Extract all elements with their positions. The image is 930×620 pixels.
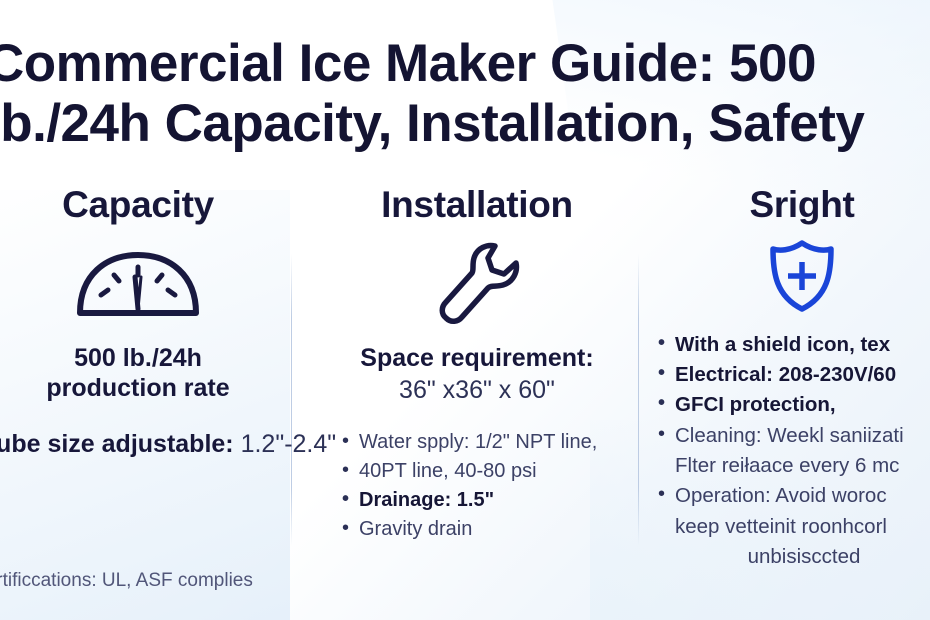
column-divider-2 <box>638 254 639 546</box>
installation-bullet-1: 40PT line, 40-80 psi <box>359 460 537 482</box>
column-safety-heading: Sright <box>652 186 930 225</box>
installation-bullet-list: Water spply: 1/2" NPT line, 40PT line, 4… <box>340 429 636 544</box>
title-line-1: Commercial Ice Maker Guide: 500 <box>0 34 930 94</box>
column-installation: Installation Space requirement: 36" x36"… <box>318 186 636 546</box>
column-safety: Sright With a shield icon, tex Electrica… <box>652 186 930 573</box>
safety-bullet-7: unbisisccted <box>748 545 861 568</box>
list-item: Gravity drain <box>340 516 636 543</box>
installation-bullet-0: Water spply: 1/2" NPT line, <box>359 431 597 453</box>
list-item: keep vetteinit roonhcorl <box>656 513 930 541</box>
safety-bullet-1: Electrical: 208-230V/60 <box>675 363 896 386</box>
gauge-icon <box>0 247 298 319</box>
column-capacity-heading: Capacity <box>0 186 298 225</box>
column-installation-heading: Installation <box>318 186 636 225</box>
capacity-rate-line2: production rate <box>0 373 298 403</box>
installation-space-value: 36" x36" x 60" <box>318 375 636 405</box>
list-item: Cleaning: Weekl saniizati <box>656 422 930 450</box>
safety-bullet-2: GFCI protection, <box>675 393 836 416</box>
safety-bullet-4: Flter reiłaace every 6 mc <box>675 454 899 477</box>
list-item: With a shield icon, tex <box>656 331 930 359</box>
safety-bullet-5: Operation: Avoid woroc <box>675 484 887 507</box>
safety-bullet-3: Cleaning: Weekl saniizati <box>675 424 904 447</box>
capacity-production-rate: 500 lb./24h production rate <box>0 343 298 403</box>
safety-bullet-6: keep vetteinit roonhcorl <box>675 515 887 538</box>
shield-plus-icon <box>652 241 930 311</box>
list-item: Water spply: 1/2" NPT line, <box>340 429 636 456</box>
list-item: Operation: Avoid woroc <box>656 482 930 510</box>
list-item: Drainage: 1.5" <box>340 487 636 514</box>
column-capacity: Capacity 500 lb./24h production rate Cub… <box>0 186 298 459</box>
list-item: Electrical: 208-230V/60 <box>656 361 930 389</box>
safety-bullet-list: With a shield icon, tex Electrical: 208-… <box>656 331 930 571</box>
footer-certifications: Certificcations: UL, ASF complies <box>0 570 253 592</box>
safety-bullet-0: With a shield icon, tex <box>675 333 890 356</box>
list-item: Flter reiłaace every 6 mc <box>656 452 930 480</box>
installation-space-requirement: Space requirement: 36" x36" x 60" <box>318 343 636 405</box>
installation-bullet-3: Gravity drain <box>359 518 472 540</box>
installation-space-label: Space requirement: <box>360 344 593 372</box>
title-line-2: lb./24h Capacity, Installation, Safety <box>0 94 930 154</box>
infographic-slide: Commercial Ice Maker Guide: 500 lb./24h … <box>0 0 930 620</box>
installation-bullet-2: Drainage: 1.5" <box>359 489 494 511</box>
capacity-rate-line1: 500 lb./24h <box>74 344 202 372</box>
wrench-icon <box>318 247 636 319</box>
capacity-cube-size: Cube size adjustable: 1.2"-2.4" <box>0 429 298 460</box>
list-item: GFCI protection, <box>656 391 930 419</box>
page-title: Commercial Ice Maker Guide: 500 lb./24h … <box>0 34 930 155</box>
capacity-cube-size-label: Cube size adjustable: <box>0 430 234 458</box>
list-item: unbisisccted <box>656 543 930 571</box>
list-item: 40PT line, 40-80 psi <box>340 458 636 485</box>
